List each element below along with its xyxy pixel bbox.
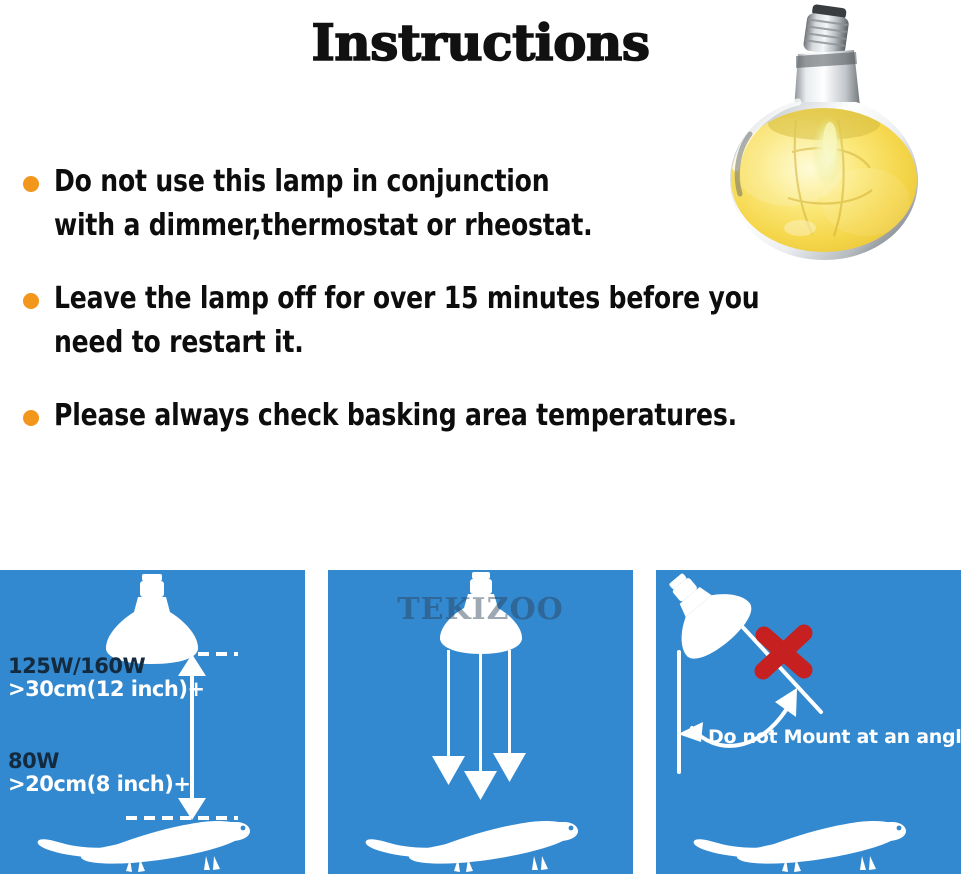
- distance-value: >20cm(8 inch)+: [8, 773, 190, 796]
- orange-dot-icon: [23, 410, 39, 426]
- wattage-value: 80W: [8, 750, 190, 773]
- mounting-distance-panel: 125W/160W >30cm(12 inch)+ 80W >20cm(8 in…: [0, 570, 305, 874]
- list-item: Please always check basking area tempera…: [14, 394, 944, 438]
- orange-dot-icon: [23, 176, 39, 192]
- orange-dot-icon: [23, 293, 39, 309]
- distance-label-high-wattage: 125W/160W >30cm(12 inch)+: [8, 655, 205, 700]
- heat-direction-panel: TEKIZOO: [328, 570, 633, 874]
- instruction-text: Please always check basking area tempera…: [54, 394, 882, 438]
- diagram-panel-row: 125W/160W >30cm(12 inch)+ 80W >20cm(8 in…: [0, 570, 961, 874]
- distance-label-low-wattage: 80W >20cm(8 inch)+: [8, 750, 190, 795]
- distance-value: >30cm(12 inch)+: [8, 678, 205, 701]
- wattage-value: 125W/160W: [8, 655, 205, 678]
- instruction-list: Do not use this lamp in conjunction with…: [14, 160, 944, 466]
- list-item: Leave the lamp off for over 15 minutes b…: [14, 277, 944, 366]
- no-angle-caption: Do not Mount at an angle: [708, 726, 961, 748]
- instruction-text: Leave the lamp off for over 15 minutes b…: [54, 277, 882, 366]
- no-angle-mount-panel: Do not Mount at an angle: [656, 570, 961, 874]
- list-item: Do not use this lamp in conjunction with…: [14, 160, 944, 249]
- instructions-page: Instructions: [0, 0, 961, 874]
- instruction-text: Do not use this lamp in conjunction with…: [54, 160, 882, 249]
